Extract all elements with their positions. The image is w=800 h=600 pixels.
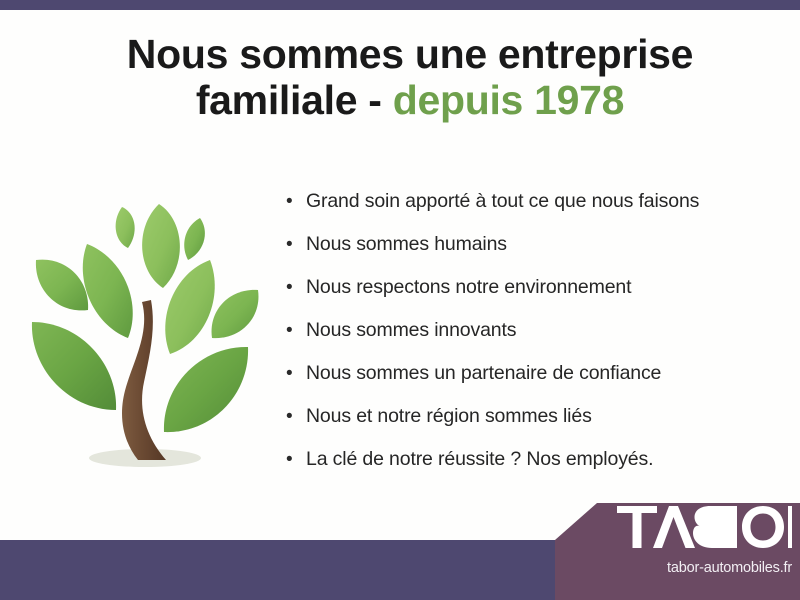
logo-letter-r [788, 506, 792, 548]
bullet-list: • Grand soin apporté à tout ce que nous … [286, 190, 786, 491]
list-item-label: Nous sommes un partenaire de confiance [306, 362, 661, 385]
title-line-1: Nous sommes une entreprise [60, 32, 760, 78]
leaf-lower-left-large [32, 322, 116, 410]
brand-tagline[interactable]: tabor-automobiles.fr [617, 560, 792, 576]
leaf-top-center [142, 204, 180, 288]
list-item: • Nous sommes innovants [286, 319, 786, 362]
logo-letter-o [742, 506, 784, 548]
list-item-label: Nous sommes innovants [306, 319, 516, 342]
bullet-icon: • [286, 192, 306, 211]
list-item: • Grand soin apporté à tout ce que nous … [286, 190, 786, 233]
leaf-top-left-small [116, 207, 135, 248]
list-item: • Nous respectons notre environnement [286, 276, 786, 319]
list-item: • Nous et notre région sommes liés [286, 405, 786, 448]
logo-letter-a [653, 506, 695, 548]
page-title: Nous sommes une entreprise familiale - d… [60, 32, 760, 124]
top-accent-bar [0, 0, 800, 10]
leaf-mid-left [36, 260, 88, 311]
list-item: • Nous sommes un partenaire de confiance [286, 362, 786, 405]
list-item-label: La clé de notre réussite ? Nos employés. [306, 448, 653, 471]
leaf-top-right-small [184, 218, 205, 260]
bullet-icon: • [286, 235, 306, 254]
bullet-icon: • [286, 321, 306, 340]
bullet-icon: • [286, 407, 306, 426]
brand-wordmark[interactable] [617, 506, 792, 548]
bullet-icon: • [286, 278, 306, 297]
bullet-icon: • [286, 450, 306, 469]
leaf-upper-left-large [83, 244, 133, 338]
slide-canvas: Nous sommes une entreprise familiale - d… [0, 0, 800, 600]
tree-illustration [14, 182, 276, 487]
list-item-label: Nous et notre région sommes liés [306, 405, 592, 428]
leaf-mid-right [212, 290, 259, 338]
list-item: • Nous sommes humains [286, 233, 786, 276]
logo-letter-t [617, 506, 657, 548]
leaf-lower-right-large [164, 347, 248, 432]
title-line-2-highlight: depuis 1978 [393, 77, 624, 123]
list-item-label: Nous sommes humains [306, 233, 507, 256]
list-item-label: Nous respectons notre environnement [306, 276, 631, 299]
title-line-2: familiale - depuis 1978 [60, 78, 760, 124]
logo-letter-b-mirrored [693, 506, 737, 548]
list-item: • La clé de notre réussite ? Nos employé… [286, 448, 786, 491]
title-line-2-dark: familiale - [196, 77, 393, 123]
list-item-label: Grand soin apporté à tout ce que nous fa… [306, 190, 699, 213]
bullet-icon: • [286, 364, 306, 383]
